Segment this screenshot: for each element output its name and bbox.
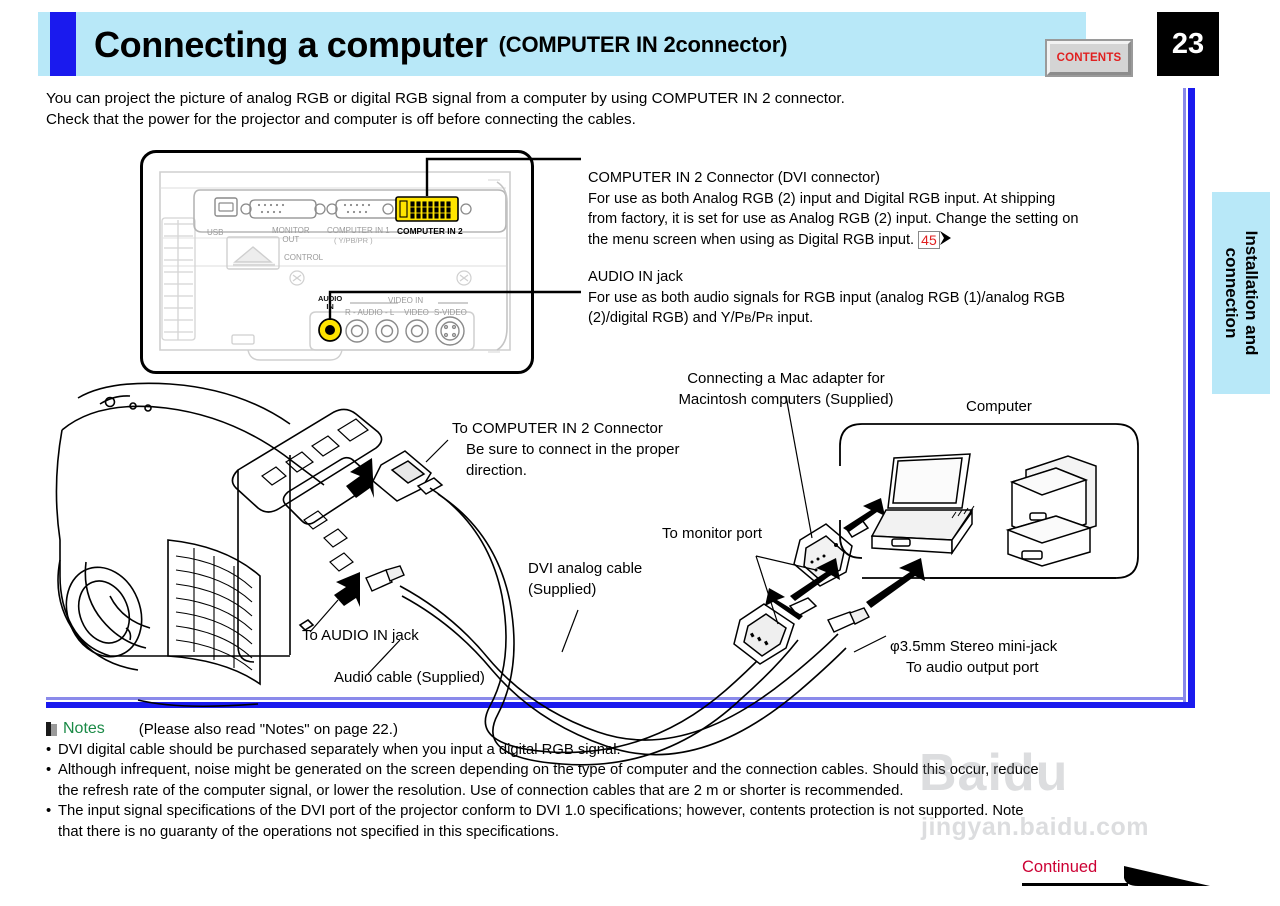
section-side-tab: Installation and connection bbox=[1212, 192, 1270, 394]
label-audio-cable: Audio cable (Supplied) bbox=[334, 667, 485, 688]
panel-label-audio-in: AUDIO IN bbox=[318, 295, 342, 311]
label-to-monitor-port: To monitor port bbox=[662, 523, 762, 544]
label-to-computer-in-2: To COMPUTER IN 2 Connector Be sure to co… bbox=[452, 418, 679, 481]
panel-label-video-in: VIDEO IN bbox=[388, 296, 423, 305]
callout-computer-in-2-line3: the menu screen when using as Digital RG… bbox=[588, 230, 1178, 253]
callout-audio-in-title: AUDIO IN jack bbox=[588, 267, 1178, 288]
note-bullet-icon: • bbox=[46, 801, 58, 821]
note-item-text: Although infrequent, noise might be gene… bbox=[58, 760, 1039, 780]
intro-paragraph: You can project the picture of analog RG… bbox=[46, 88, 1176, 130]
section-side-tab-label: Installation and connection bbox=[1212, 192, 1270, 394]
note-item: • DVI digital cable should be purchased … bbox=[46, 740, 1216, 760]
label-to-audio-in-jack: To AUDIO IN jack bbox=[302, 625, 419, 646]
callout-computer-in-2-title: COMPUTER IN 2 Connector (DVI connector) bbox=[588, 168, 1178, 189]
note-item-continuation: the refresh rate of the computer signal,… bbox=[46, 781, 1216, 801]
label-computer: Computer bbox=[966, 396, 1032, 417]
page-reference-arrow-icon bbox=[939, 230, 952, 253]
notes-heading-row: Notes (Please also read "Notes" on page … bbox=[46, 718, 1216, 740]
note-item: • The input signal specifications of the… bbox=[46, 801, 1216, 821]
note-item: • Although infrequent, noise might be ge… bbox=[46, 760, 1216, 780]
callout-audio-in-line1: For use as both audio signals for RGB in… bbox=[588, 288, 1178, 309]
callout-computer-in-2-line2: from factory, it is set for use as Analo… bbox=[588, 209, 1178, 230]
note-item-text: DVI digital cable should be purchased se… bbox=[58, 740, 621, 760]
note-bullet-icon: • bbox=[46, 740, 58, 760]
panel-label-computer-in-1-sub: ( Y/PB/PR ) bbox=[334, 236, 373, 245]
panel-label-usb: USB bbox=[207, 228, 223, 237]
continued-arrow-icon bbox=[1122, 860, 1214, 890]
notes-heading-note: (Please also read "Notes" on page 22.) bbox=[139, 721, 398, 738]
page-title: Connecting a computer (COMPUTER IN 2 con… bbox=[94, 14, 787, 76]
panel-label-monitor-out: MONITOR OUT bbox=[272, 226, 310, 244]
panel-label-r-audio-l: R - AUDIO - L bbox=[345, 308, 394, 317]
note-bullet-icon: • bbox=[46, 760, 58, 780]
continued-underline bbox=[1022, 883, 1128, 886]
page-frame-right-light bbox=[1183, 88, 1186, 708]
title-subtitle: (COMPUTER IN 2 connector) bbox=[499, 32, 788, 58]
callout-audio-in-line2: (2)/digital RGB) and Y/PB/PR input. bbox=[588, 308, 1178, 330]
title-main: Connecting a computer bbox=[94, 24, 488, 66]
note-item-text: The input signal specifications of the D… bbox=[58, 801, 1024, 821]
header-blue-bar bbox=[50, 12, 76, 76]
continued-footer[interactable]: Continued bbox=[1022, 858, 1222, 894]
notes-section: Notes (Please also read "Notes" on page … bbox=[46, 718, 1216, 842]
page-number-value: 23 bbox=[1172, 28, 1204, 61]
notes-heading: Notes bbox=[63, 720, 105, 738]
page-header: Connecting a computer (COMPUTER IN 2 con… bbox=[38, 12, 1218, 76]
notes-marker-icon bbox=[46, 722, 57, 736]
header-light-stripe bbox=[38, 12, 50, 76]
contents-button-label: CONTENTS bbox=[1057, 52, 1122, 64]
contents-button[interactable]: CONTENTS bbox=[1047, 41, 1131, 75]
page-frame-bottom bbox=[46, 702, 1195, 708]
page-frame-bottom-light bbox=[46, 697, 1186, 700]
continued-label: Continued bbox=[1022, 858, 1097, 877]
label-mac-adapter: Connecting a Mac adapter for Macintosh c… bbox=[668, 368, 904, 410]
panel-label-computer-in-2: COMPUTER IN 2 bbox=[397, 226, 463, 236]
intro-line-1: You can project the picture of analog RG… bbox=[46, 88, 1176, 109]
title-sub-lower: connector) bbox=[676, 32, 788, 58]
label-dvi-analog-cable: DVI analog cable (Supplied) bbox=[528, 558, 642, 600]
note-item-continuation: that there is no guaranty of the operati… bbox=[46, 822, 1216, 842]
callout-computer-in-2-line1: For use as both Analog RGB (2) input and… bbox=[588, 189, 1178, 210]
page-frame-right bbox=[1188, 88, 1195, 708]
page-reference-link[interactable]: 45 bbox=[918, 231, 940, 249]
panel-label-control: CONTROL bbox=[284, 253, 323, 262]
panel-label-computer-in-1: COMPUTER IN 1 bbox=[327, 226, 390, 235]
page-number-badge: 23 bbox=[1157, 12, 1219, 76]
panel-label-s-video: S-VIDEO bbox=[434, 308, 467, 317]
panel-label-video: VIDEO bbox=[404, 308, 429, 317]
callout-computer-in-2: COMPUTER IN 2 Connector (DVI connector) … bbox=[588, 168, 1178, 252]
manual-page: Connecting a computer (COMPUTER IN 2 con… bbox=[0, 0, 1280, 906]
title-sub-caps: (COMPUTER IN 2 bbox=[499, 32, 676, 58]
callout-audio-in: AUDIO IN jack For use as both audio sign… bbox=[588, 267, 1178, 330]
label-mini-jack: φ3.5mm Stereo mini-jack To audio output … bbox=[890, 636, 1057, 678]
rear-panel-callout-box bbox=[140, 150, 534, 374]
intro-line-2: Check that the power for the projector a… bbox=[46, 109, 1176, 130]
